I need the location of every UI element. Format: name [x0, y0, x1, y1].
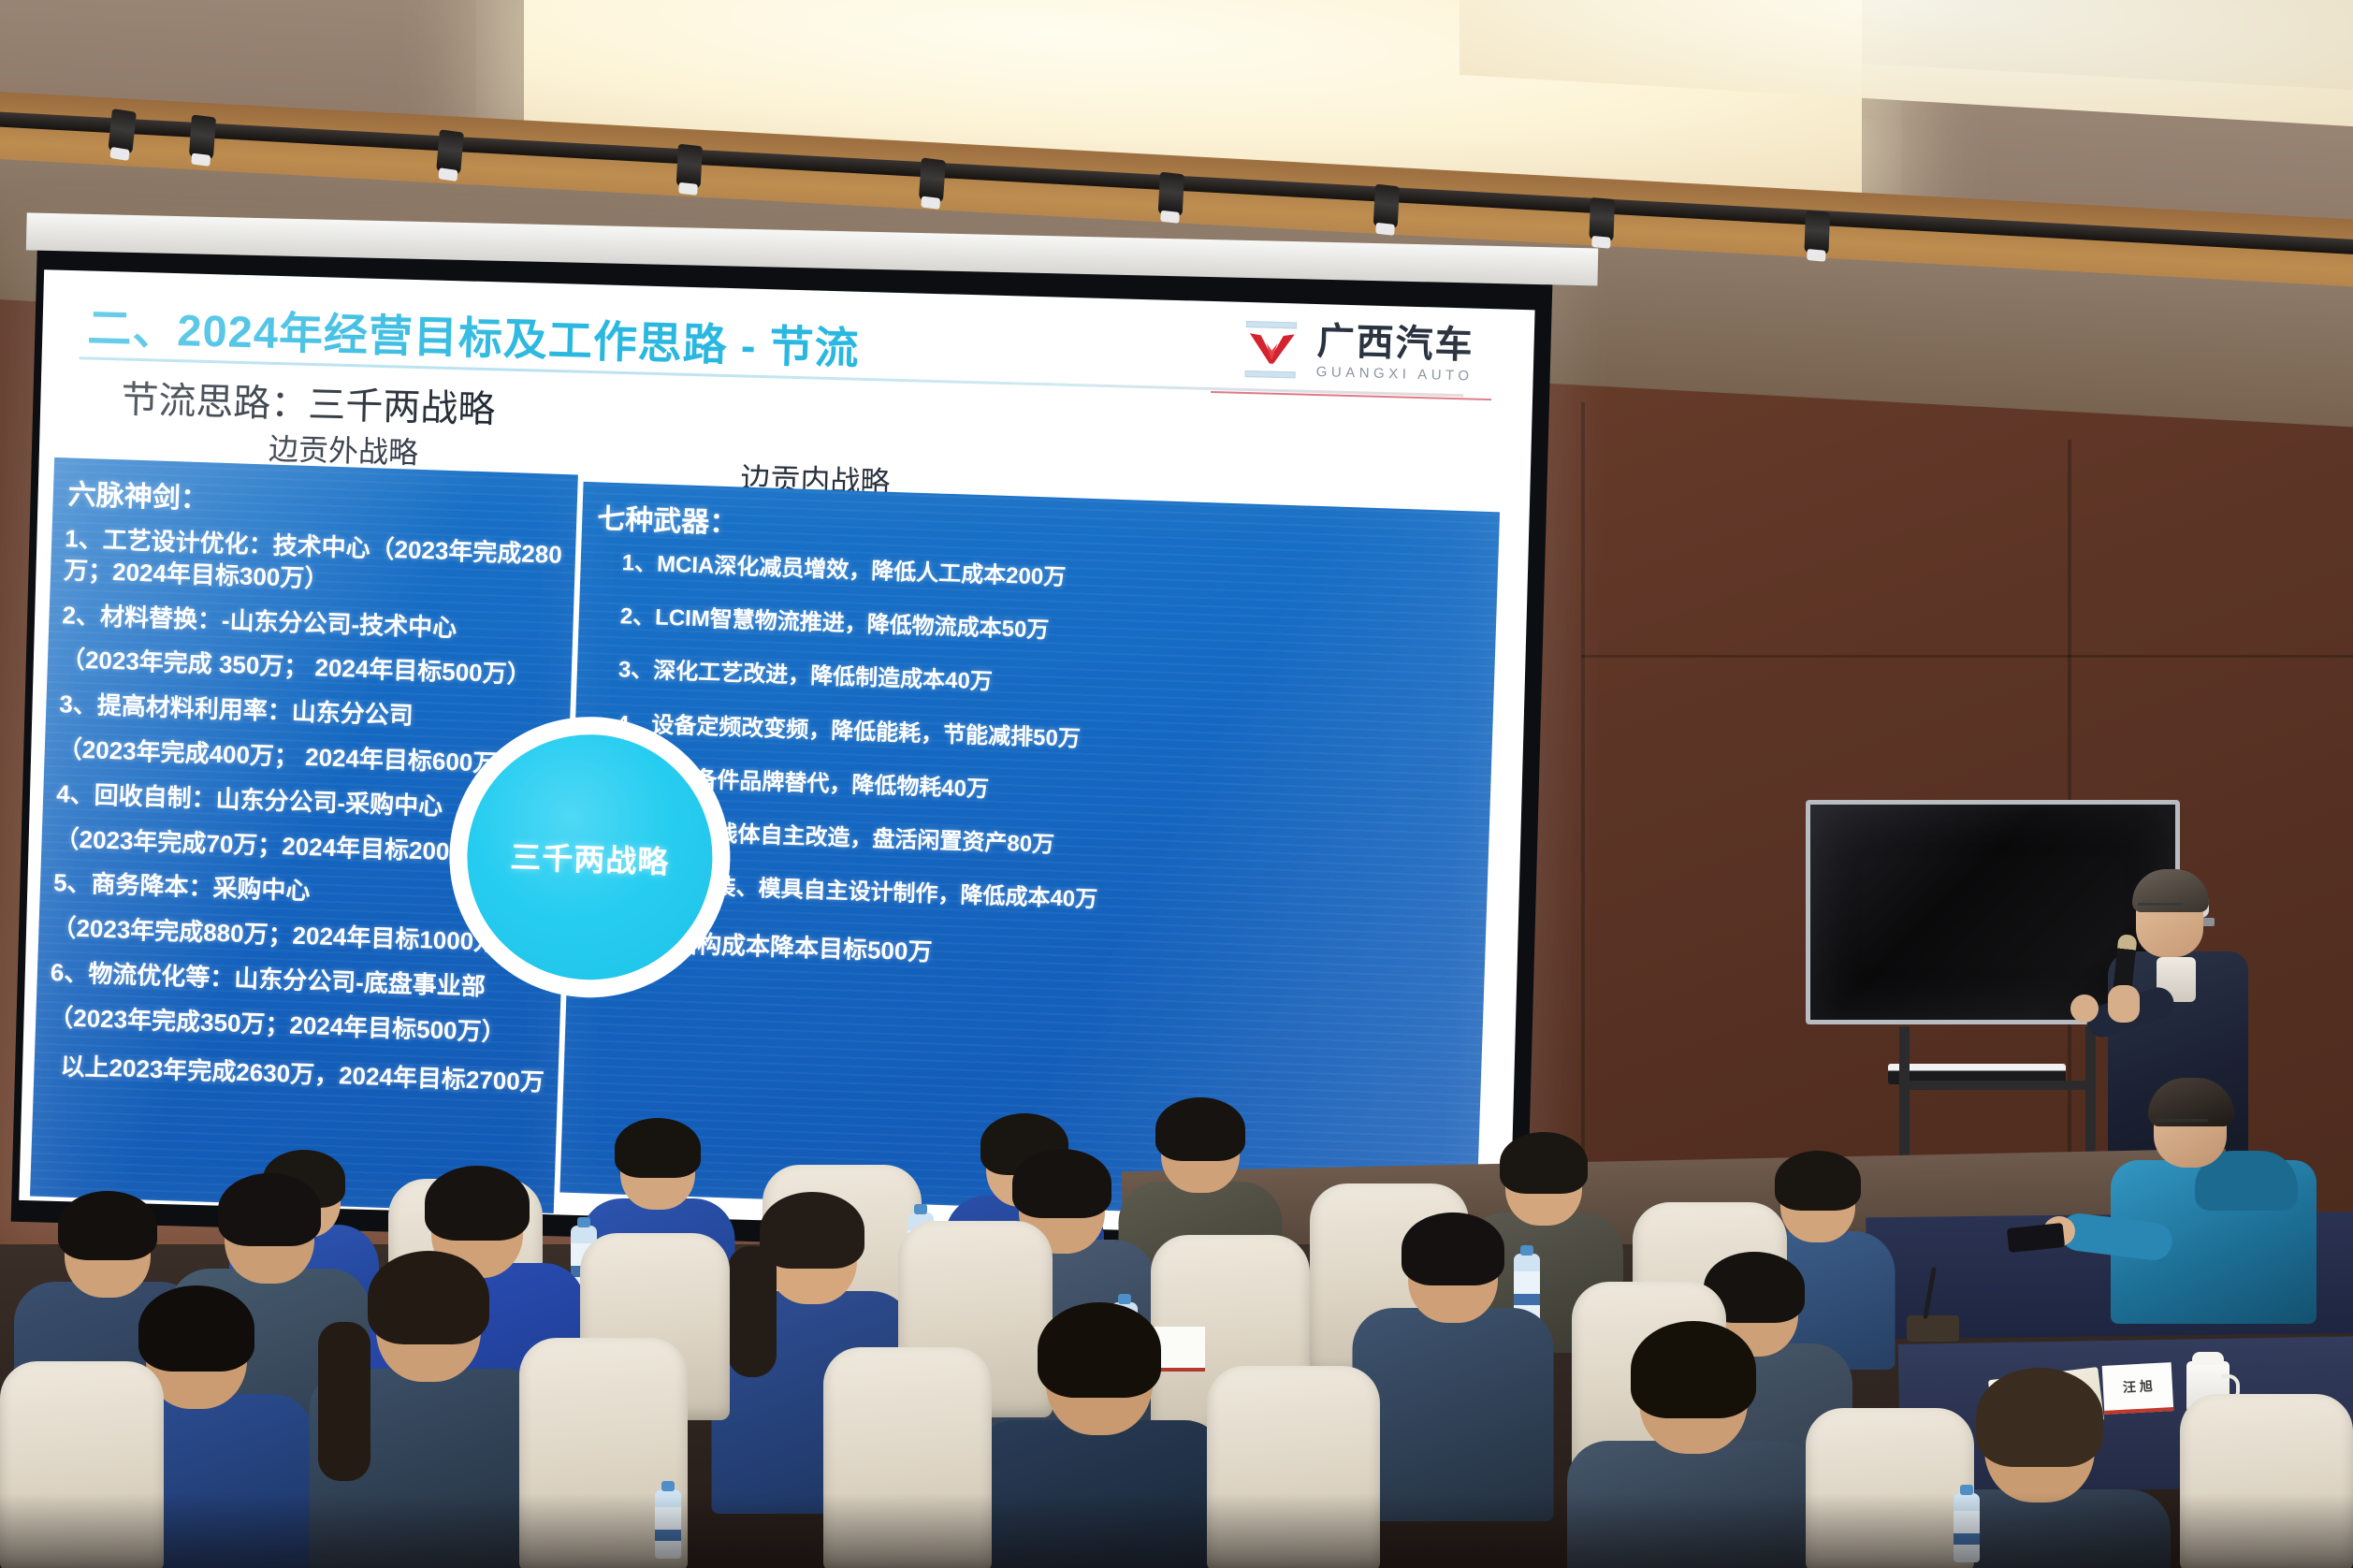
projection-screen: 二、2024年经营目标及工作思路 - 节流 节流思路：三千两战略 广西汽车 GU…: [11, 241, 1553, 1262]
track-light-icon: [189, 114, 216, 160]
logo-v-icon: [1247, 331, 1297, 366]
audience-hair: [615, 1118, 701, 1178]
wall-seam: [1581, 402, 1585, 1244]
panel-left-item: 3、提高材料利用率：山东分公司: [59, 689, 571, 737]
panel-right-item: 6、设备、线体自主改造，盘活闲置资产80万: [613, 816, 1489, 874]
company-logo: 广西汽车 GUANGXI AUTO: [1237, 319, 1474, 385]
center-circle-core: 三千两战略: [463, 731, 717, 984]
audience-hair: [425, 1166, 530, 1241]
presenter-mic-hand: [2108, 985, 2140, 1023]
track-light-icon: [436, 129, 464, 175]
track-light-icon: [1158, 172, 1184, 218]
tv-stand: [1899, 1026, 2096, 1157]
panel-right-item: 2、LCIM智慧物流推进，降低物流成本50万: [619, 602, 1496, 660]
logo-text-block: 广西汽车 GUANGXI AUTO: [1316, 323, 1475, 384]
panel-right-item: 3、深化工艺改进，降低制造成本40万: [617, 656, 1494, 714]
panel-right-footer: 2024年结构成本降本目标500万: [594, 922, 1486, 987]
track-light-icon: [1804, 211, 1830, 255]
audience-hair: [1631, 1321, 1756, 1418]
seated-attendee-front-right: [2105, 1085, 2320, 1319]
track-light-icon: [1589, 197, 1615, 242]
track-light-icon: [108, 109, 137, 155]
panel-left-heading: 六脉神剑：: [67, 471, 577, 529]
audience-hair: [138, 1285, 254, 1372]
audience-hair: [1155, 1097, 1245, 1161]
slide-surface: 二、2024年经营目标及工作思路 - 节流 节流思路：三千两战略 广西汽车 GU…: [19, 269, 1534, 1241]
panel-left-item: 1、工艺设计优化：技术中心（2023年完成280万；2024年目标300万）: [64, 523, 576, 603]
wall-seam: [1581, 655, 2353, 658]
slide-subtitle: 节流思路：三千两战略: [121, 369, 496, 433]
audience-hair: [1012, 1149, 1111, 1218]
audience-hair: [760, 1192, 864, 1269]
foreground-vignette: [0, 1493, 2353, 1568]
logo-bar-bottom: [1245, 370, 1296, 378]
panel-left-item: （2023年完成350万；2024年目标500万）: [49, 1002, 560, 1051]
panel-left-item: 2、材料替换：-山东分公司-技术中心: [62, 600, 574, 648]
presenter-glasses-icon: [2138, 903, 2183, 913]
track-light-icon: [676, 144, 703, 190]
track-light-icon: [1373, 184, 1400, 230]
tv-stand-crossbar: [1899, 1081, 2096, 1090]
center-circle-label: 三千两战略: [510, 832, 670, 882]
attendee-glasses-icon: [2156, 1119, 2208, 1130]
panel-left-item: （2023年完成 350万； 2024年目标500万）: [60, 645, 572, 693]
presenter-hand: [2070, 995, 2099, 1023]
panel-right-item: 4、设备定频改变频，降低能耗，节能减排50万: [617, 709, 1493, 767]
logo-name-cn: 广西汽车: [1316, 323, 1474, 365]
panel-left-item: 6、物流优化等：山东分公司-底盘事业部: [50, 957, 561, 1006]
audience-hair: [218, 1173, 321, 1246]
logo-bar-top: [1246, 321, 1297, 328]
audience-hair: [1775, 1151, 1861, 1211]
panel-right-item: 7、加强工装、模具自主设计制作，降低成本40万: [611, 869, 1488, 927]
audience-member: [1352, 1216, 1553, 1516]
tv-stand-leg: [1899, 1026, 1910, 1157]
desk-microphone-icon: [1907, 1315, 1959, 1342]
screenshot-root: 二、2024年经营目标及工作思路 - 节流 节流思路：三千两战略 广西汽车 GU…: [0, 0, 2353, 1568]
audience-hair: [1500, 1132, 1588, 1194]
audience-hair: [1976, 1368, 2103, 1467]
audience-hair: [1038, 1302, 1161, 1398]
audience-ponytail: [728, 1246, 777, 1377]
audience-hair: [1402, 1212, 1504, 1285]
audience-hair: [58, 1191, 157, 1260]
audience-hair: [368, 1251, 489, 1344]
logo-name-en: GUANGXI AUTO: [1316, 365, 1474, 384]
panel-left-footer: 以上2023年完成2630万，2024年目标2700万: [60, 1047, 559, 1098]
audience-torso: [1352, 1308, 1553, 1521]
panel-right-item: 5、备品备件品牌替代，降低物耗40万: [615, 762, 1491, 820]
track-light-icon: [919, 157, 946, 203]
wuling-v-mark-icon: [1237, 319, 1306, 381]
audience-ponytail: [318, 1322, 370, 1481]
